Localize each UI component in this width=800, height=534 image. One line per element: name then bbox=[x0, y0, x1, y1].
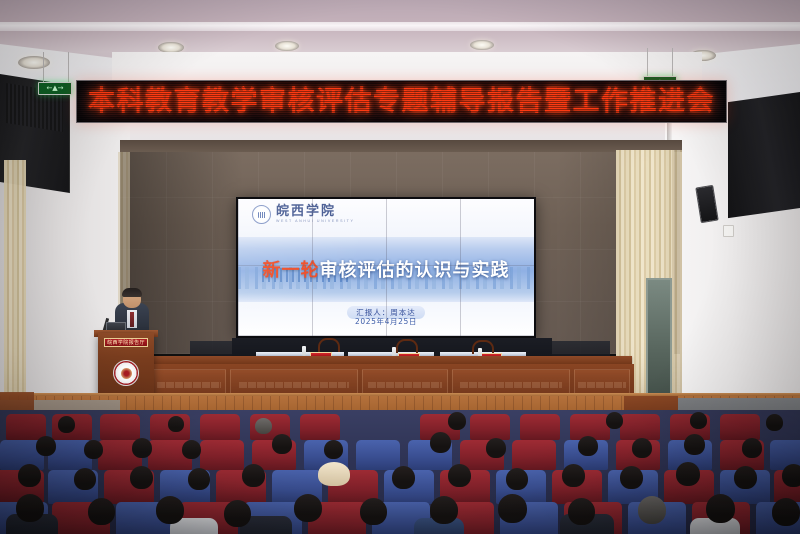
seat[interactable] bbox=[520, 414, 560, 440]
audience-head bbox=[324, 440, 343, 459]
ceiling-light-strip bbox=[0, 22, 800, 31]
audience-head bbox=[568, 498, 595, 525]
water-bottle-icon bbox=[302, 346, 306, 356]
audience-head bbox=[74, 468, 96, 490]
audience-head bbox=[224, 500, 251, 527]
slide-title-main: 审核评估的认识与实践 bbox=[320, 260, 510, 281]
seat[interactable] bbox=[6, 414, 46, 440]
audience-head bbox=[58, 416, 75, 433]
audience-head bbox=[578, 436, 598, 456]
downlight-icon bbox=[470, 40, 494, 50]
exit-sign-left: ←▲→ bbox=[38, 82, 72, 95]
sign-rod bbox=[68, 52, 69, 82]
university-seal-icon bbox=[252, 205, 271, 224]
audience-head bbox=[36, 436, 56, 456]
seat[interactable] bbox=[100, 414, 140, 440]
audience-head bbox=[506, 468, 528, 490]
slide-date: 2025年4月25日 bbox=[238, 316, 534, 327]
presenter-tie bbox=[130, 312, 134, 327]
audience-head bbox=[498, 494, 527, 523]
downlight-icon bbox=[275, 41, 299, 51]
audience-head bbox=[392, 466, 415, 489]
curtain-left-edge bbox=[4, 160, 26, 410]
audience-head bbox=[632, 438, 652, 458]
audience-head bbox=[182, 440, 201, 459]
seat[interactable] bbox=[720, 414, 760, 440]
table-microphone-icon bbox=[472, 340, 494, 354]
downlight-icon bbox=[18, 56, 50, 69]
auditorium-photo: ←▲→ ←▲→ 本科教育教学审核评估专题辅导报告暨工作推进会 bbox=[0, 0, 800, 534]
seat[interactable] bbox=[200, 414, 240, 440]
led-banner-text: 本科教育教学审核评估专题辅导报告暨工作推进会 bbox=[88, 88, 715, 115]
sign-rod bbox=[43, 52, 44, 82]
curtain-right-edge bbox=[672, 150, 682, 414]
audience-head bbox=[448, 412, 466, 430]
audience-head bbox=[168, 416, 184, 432]
podium-nameplate-text: 皖西学院报告厅 bbox=[107, 339, 145, 346]
slide-title-highlight: 新一轮 bbox=[263, 260, 320, 281]
table-microphone-icon bbox=[318, 338, 340, 352]
seat[interactable] bbox=[620, 414, 660, 440]
audience-head-with-hat bbox=[318, 462, 350, 486]
table-microphone-icon bbox=[396, 339, 418, 353]
slide-logo-cn: 皖西学院 bbox=[276, 205, 354, 219]
audience-head bbox=[606, 412, 623, 429]
audience-head bbox=[255, 418, 272, 434]
slide-university-logo: 皖西学院 WEST ANHUI UNIVERSITY bbox=[252, 205, 354, 224]
seat[interactable] bbox=[300, 414, 340, 440]
audience-head bbox=[156, 496, 184, 524]
audience-head bbox=[84, 440, 103, 459]
audience-head bbox=[18, 464, 41, 487]
audience-head bbox=[188, 468, 210, 490]
seat[interactable] bbox=[200, 440, 244, 470]
light-switch[interactable] bbox=[723, 225, 734, 237]
led-banner: 本科教育教学审核评估专题辅导报告暨工作推进会 bbox=[76, 80, 727, 123]
audience-head bbox=[690, 412, 707, 429]
audience-head bbox=[676, 462, 700, 486]
audience-head bbox=[430, 496, 458, 524]
audience-head bbox=[620, 466, 643, 489]
audience-head bbox=[294, 494, 322, 522]
slide-title: 新一轮审核评估的认识与实践 bbox=[238, 256, 534, 282]
presenter-hair bbox=[122, 288, 142, 297]
audience-head bbox=[360, 498, 387, 525]
sign-rod bbox=[647, 48, 648, 76]
audience-head bbox=[742, 438, 762, 458]
seat[interactable] bbox=[356, 440, 400, 470]
exit-sign-glyph: ←▲→ bbox=[46, 85, 63, 92]
audience-head bbox=[88, 498, 115, 525]
audience-head bbox=[734, 466, 757, 489]
stage-side-door[interactable] bbox=[646, 278, 672, 396]
audience-head bbox=[638, 496, 666, 524]
audience-head bbox=[562, 464, 585, 487]
stage-valance bbox=[120, 140, 682, 152]
university-emblem-icon bbox=[113, 360, 139, 386]
audience-head bbox=[430, 432, 451, 453]
audience-head bbox=[782, 464, 800, 487]
audience-head bbox=[706, 494, 735, 523]
video-wall-screen: 皖西学院 WEST ANHUI UNIVERSITY 新一轮审核评估的认识与实践… bbox=[236, 197, 536, 338]
sign-rod bbox=[672, 48, 673, 76]
audience-seating bbox=[0, 410, 800, 534]
seat[interactable] bbox=[470, 414, 510, 440]
audience-head bbox=[16, 494, 44, 522]
podium-nameplate: 皖西学院报告厅 bbox=[104, 338, 148, 347]
audience-head bbox=[242, 464, 265, 487]
audience-head bbox=[130, 466, 153, 489]
seat[interactable] bbox=[512, 440, 556, 470]
slide-logo-en: WEST ANHUI UNIVERSITY bbox=[276, 220, 354, 224]
audience-head bbox=[486, 438, 506, 458]
audience-head bbox=[272, 434, 292, 454]
audience-head bbox=[132, 438, 152, 458]
audience-head bbox=[684, 434, 705, 455]
audience-head bbox=[772, 498, 800, 526]
audience-head bbox=[766, 414, 783, 431]
presentation-slide: 皖西学院 WEST ANHUI UNIVERSITY 新一轮审核评估的认识与实践… bbox=[238, 199, 534, 336]
line-array-speaker-icon bbox=[728, 92, 800, 218]
audience-head bbox=[448, 464, 471, 487]
